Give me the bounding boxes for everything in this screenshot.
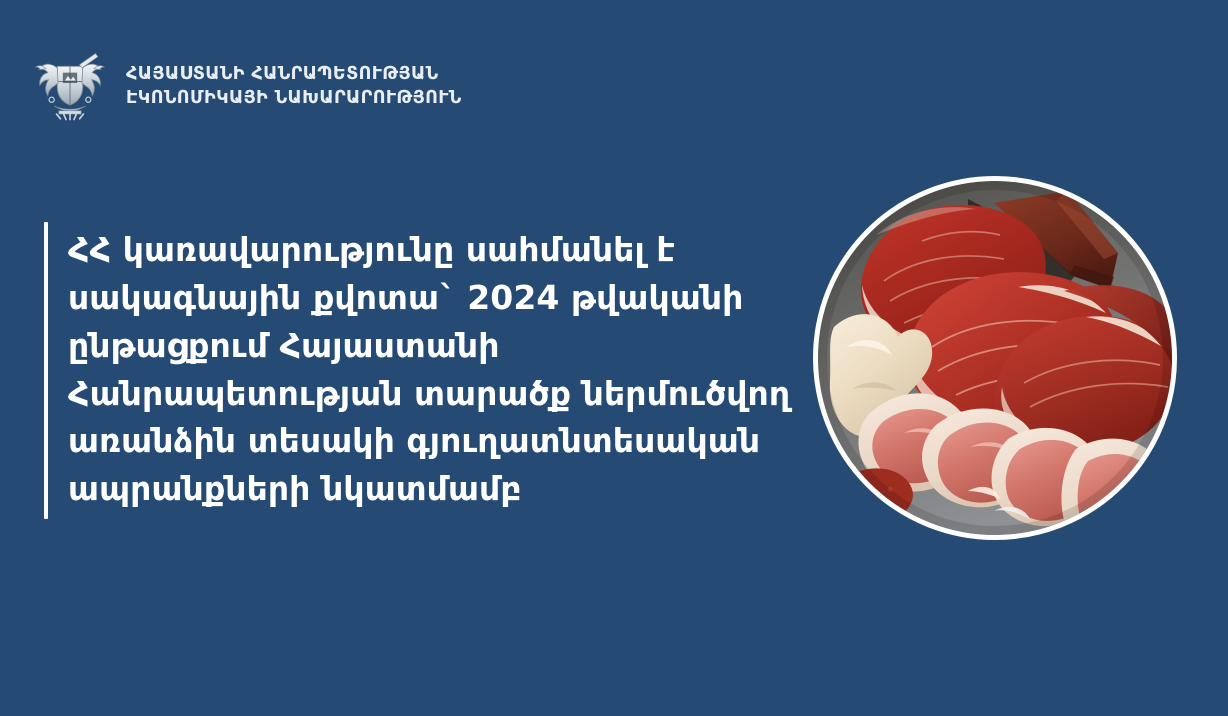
headline-line: ընթացքում Հայաստանի [68,322,790,370]
headline-line: ՀՀ կառավարությունը սահմանել է [68,226,790,274]
photo-clip [818,181,1172,535]
page-title: ՀՀ կառավարությունը սահմանել է սակագնային… [68,222,790,519]
headline-line: ապրանքների նկատմամբ [68,465,790,513]
ministry-name: ՀԱՅԱՍՏԱՆԻ ՀԱՆՐԱՊԵՏՈՒԹՅԱՆ ԷԿՈՆՈՄԻԿԱՅԻ ՆԱԽ… [126,58,462,108]
org-line-republic: ՀԱՅԱՍՏԱՆԻ ՀԱՆՐԱՊԵՏՈՒԹՅԱՆ [126,64,462,85]
headline-block: ՀՀ կառավարությունը սահմանել է սակագնային… [44,222,790,519]
poster-canvas: ՀԱՅԱՍՏԱՆԻ ՀԱՆՐԱՊԵՏՈՒԹՅԱՆ ԷԿՈՆՈՄԻԿԱՅԻ ՆԱԽ… [0,0,1228,716]
org-line-ministry: ԷԿՈՆՈՄԻԿԱՅԻ ՆԱԽԱՐԱՐՈՒԹՅՈՒՆ [126,88,462,109]
accent-vertical-rule [44,222,48,519]
headline-line: առանձին տեսակի գյուղատնտեսական [68,417,790,465]
ministry-branding: ՀԱՅԱՍՏԱՆԻ ՀԱՆՐԱՊԵՏՈՒԹՅԱՆ ԷԿՈՆՈՄԻԿԱՅԻ ՆԱԽ… [30,44,462,122]
headline-line: Հանրապետության տարածք ներմուծվող [68,370,790,418]
raw-meat-cuts-photo [813,176,1177,540]
meat-illustration [818,181,1172,535]
headline-line: սակագնային քվոտա` 2024 թվականի [68,274,790,322]
armenia-coat-of-arms-icon [30,44,110,122]
